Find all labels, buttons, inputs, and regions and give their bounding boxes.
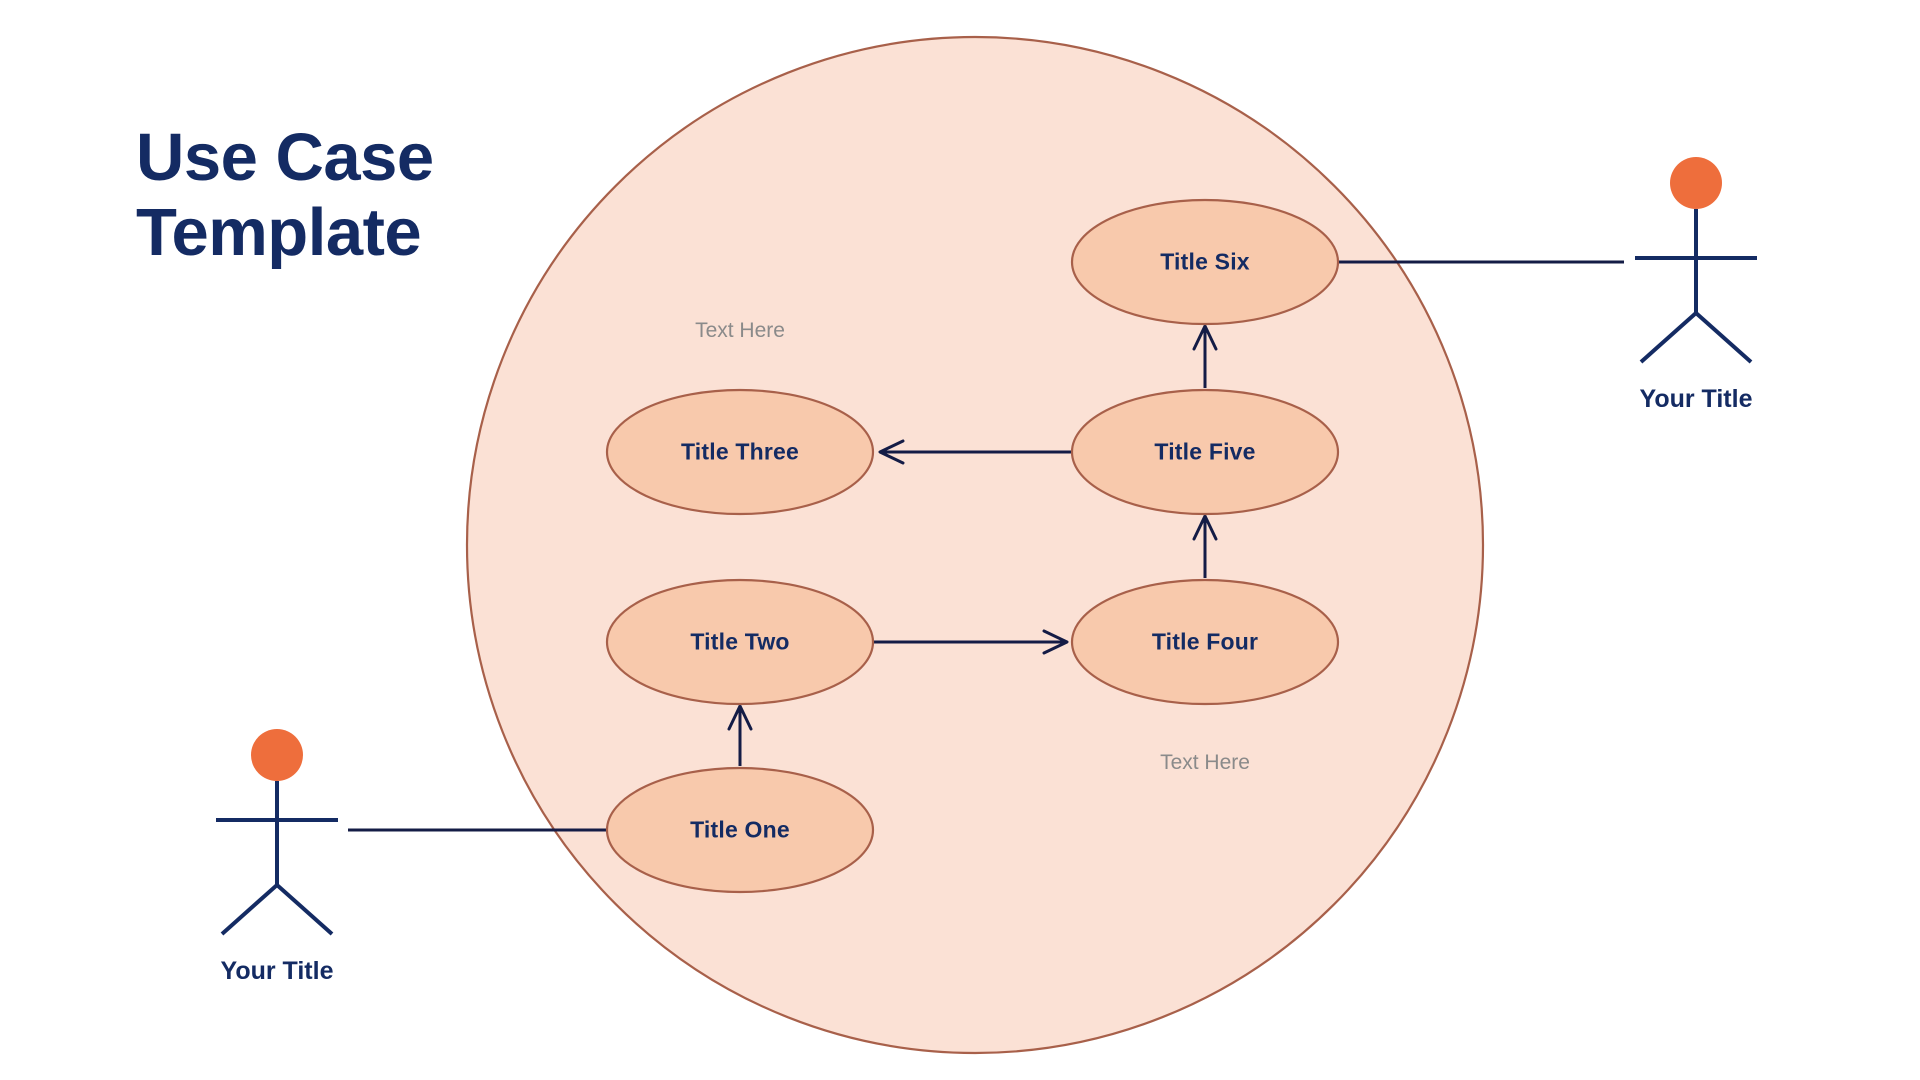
use-case-label-title-four: Title Four bbox=[1152, 629, 1258, 656]
use-case-label-title-five: Title Five bbox=[1154, 439, 1255, 466]
actor-right-leg-line bbox=[1696, 313, 1751, 362]
actor-label-left: Your Title bbox=[221, 957, 334, 986]
actor-label-right: Your Title bbox=[1640, 385, 1753, 414]
system-boundary-circle bbox=[467, 37, 1483, 1053]
actor-head-icon bbox=[251, 729, 303, 781]
actor-left[interactable] bbox=[216, 729, 338, 934]
actor-left-leg-line bbox=[1641, 313, 1696, 362]
actor-right[interactable] bbox=[1635, 157, 1757, 362]
page-title: Use Case Template bbox=[136, 120, 556, 270]
note-label-bottom-right: Text Here bbox=[1160, 751, 1250, 775]
actor-right-leg-line bbox=[277, 885, 332, 934]
page-title-line-2: Template bbox=[136, 195, 556, 270]
actor-head-icon bbox=[1670, 157, 1722, 209]
actor-left-leg-line bbox=[222, 885, 277, 934]
use-case-label-title-six: Title Six bbox=[1160, 249, 1250, 276]
page-title-line-1: Use Case bbox=[136, 120, 556, 195]
use-case-label-title-one: Title One bbox=[690, 817, 790, 844]
use-case-label-title-three: Title Three bbox=[681, 439, 799, 466]
note-label-top-left: Text Here bbox=[695, 319, 785, 343]
diagram-canvas: Use Case Template Title Six Title Five T… bbox=[0, 0, 1920, 1080]
use-case-label-title-two: Title Two bbox=[690, 629, 789, 656]
